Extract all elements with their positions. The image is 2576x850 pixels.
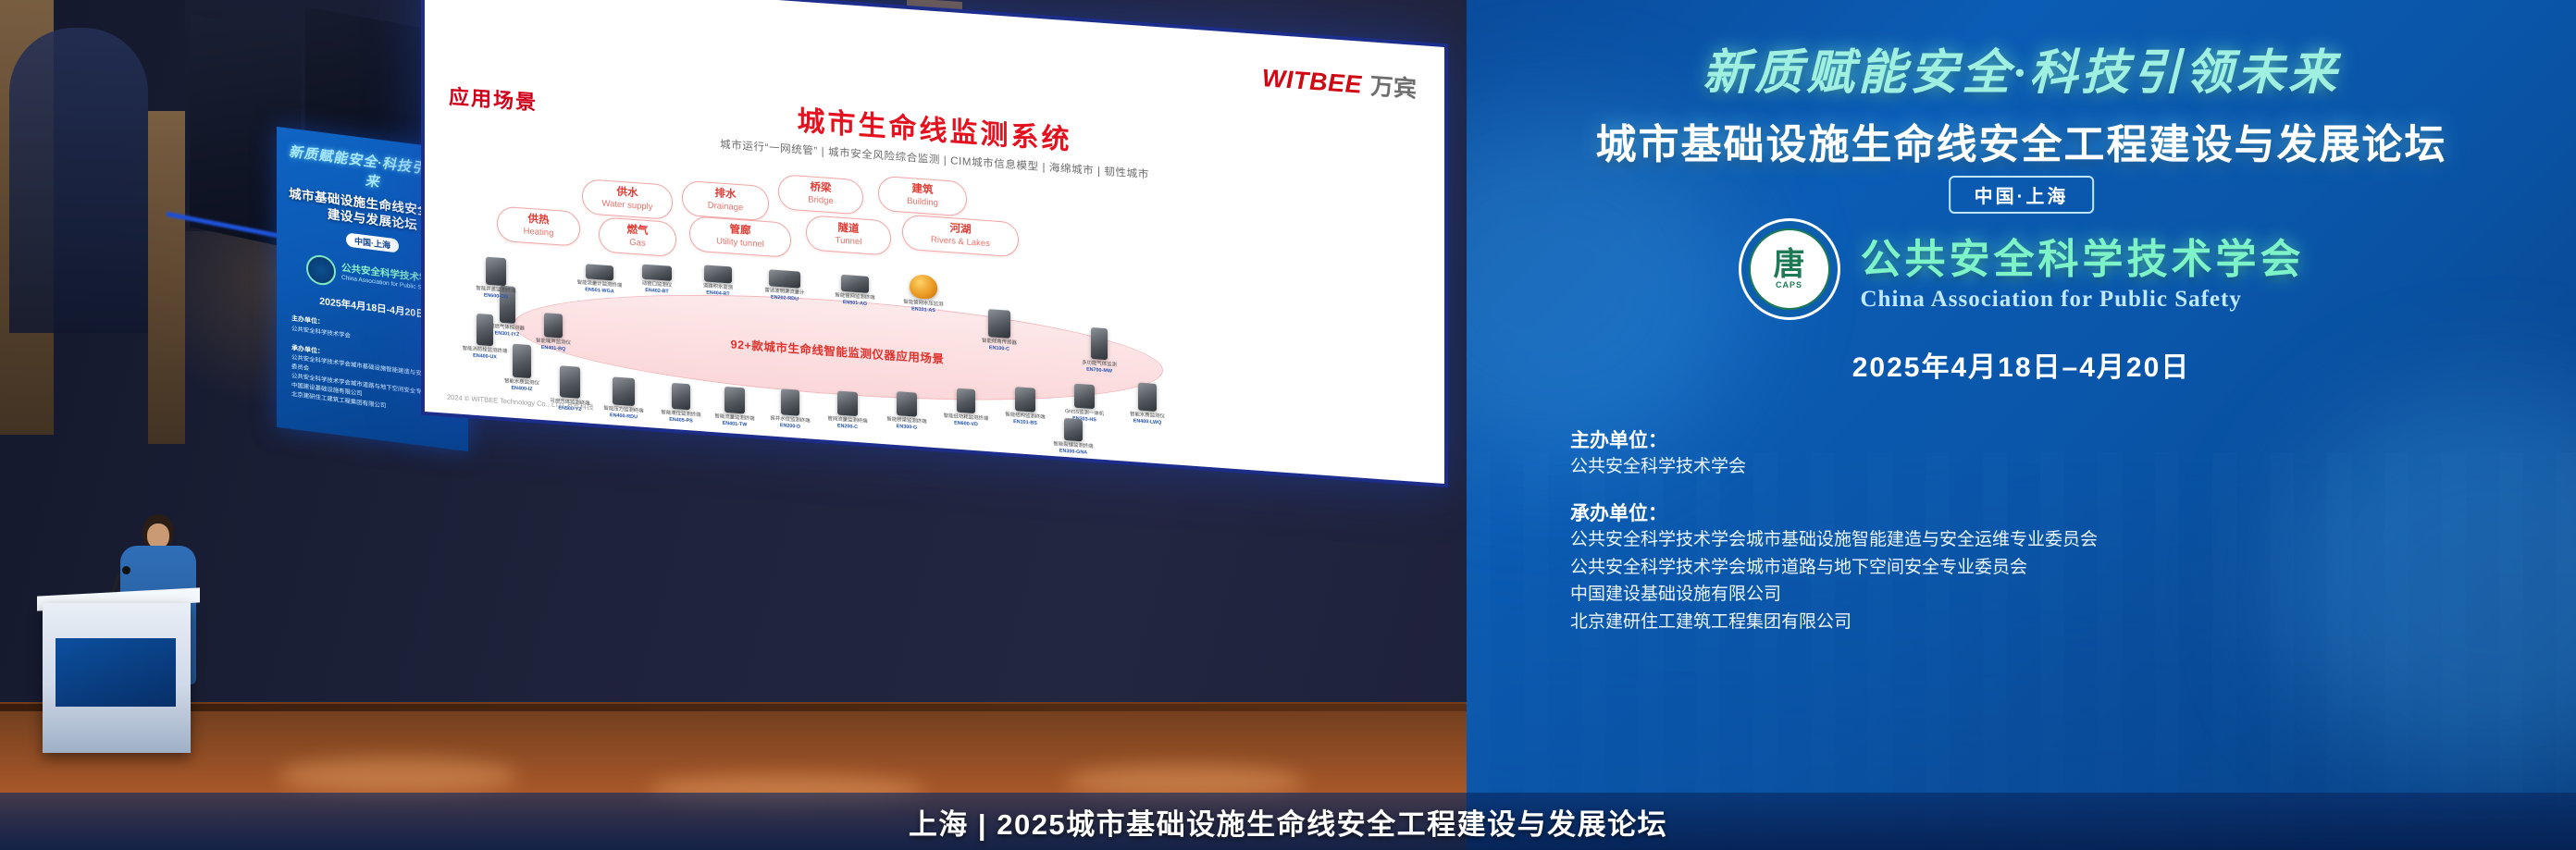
device-item-amber: 智能管网水压监测 EN101-AS [897,273,950,314]
device-item: 道路积水监测 EN404-RT [691,264,745,298]
speaker-face [147,524,169,548]
stage-edge [0,704,1517,711]
banner-host-label: 主办单位： [1570,425,2520,453]
device-item: 智能流量监测终端 EN401-TW [708,386,762,429]
seal-abbr: CAPS [1776,280,1802,289]
device-item: 动窖口监测仪 EN402-BT [630,264,684,296]
pill-utility-tunnel: 管廊 Utility tunnel [689,216,791,258]
presentation-slide: WITBEE 万宾 应用场景 城市生命线监测系统 城市运行“一网统管” | 城市… [425,0,1444,484]
device-item: 智能管网监测终端 EN501-AG [828,274,882,308]
device-item: 智能噪声监测仪 EN401-BQ [526,312,580,353]
caption-bar: 上海 | 2025城市基础设施生命线安全工程建设与发展论坛 [0,793,2576,850]
device-item: 智能井盖监测终端 EN600-CG [469,255,523,301]
device-item: 智能桥梁监测终端 EN300-G [880,390,934,432]
left-panel-region-chip: 中国·上海 [346,232,399,253]
pill-water-supply: 供水 Water supply [582,179,673,220]
device-item: 智能低功耗监测终端 EN600-VD [939,387,993,428]
witbee-logo-cn: 万宾 [1370,68,1417,105]
banner-co-0: 公共安全科学技术学会城市基础设施智能建造与安全运维专业委员会 [1570,526,2520,553]
witbee-logo: WITBEE 万宾 [1262,60,1417,105]
left-panel-host-label: 主办单位： [291,315,324,326]
banner-calligraphy: 新质赋能安全·科技引领未来 [1467,33,2576,103]
device-item: 智能裂缝监测终端 EN300-GNA [1046,417,1100,457]
banner-organizer-block: 唐 CAPS 公共安全科学技术学会 China Association for … [1467,218,2576,320]
pill-tunnel: 隧道 Tunnel [806,215,891,255]
device-item: 智能水质监测仪 EN400-LWQ [1121,381,1174,426]
banner-co-2: 中国建设基础设施有限公司 [1570,581,2520,608]
device-item: 智能结构监测终端 EN101-BS [998,386,1052,427]
banner-date: 2025年4月18日–4月20日 [1467,344,2576,385]
seal-glyph: 唐 [1774,249,1805,280]
conference-photo: 新质赋能安全·科技引领未来 城市基础设施生命线安全工程建设与发展论坛 中国·上海… [0,0,2576,850]
device-item: 管网流量监测终端 EN200-C [821,389,874,431]
left-panel-host-value: 公共安全科学技术学会 [291,326,351,339]
caps-seal-icon: 唐 CAPS [1739,218,1840,320]
wall-wood-panel-2 [148,111,185,444]
banner-host-value: 公共安全科学技术学会 [1570,453,2520,480]
witbee-logo-en: WITBEE [1262,64,1362,100]
caps-seal-icon [306,253,336,287]
caption-text: 上海 | 2025城市基础设施生命线安全工程建设与发展论坛 [909,801,1667,843]
device-item: 雷达波明渠流量计 EN202-RDU [758,268,811,302]
device-item: 多功能气体监测 EN700-MW [1072,326,1126,376]
device-item: 智能倾角传感器 EN100-C [972,308,1026,353]
microphone-head-icon [122,566,130,574]
pill-rivers-lakes: 河湖 Rivers & Lakes [902,215,1019,258]
banner-co-label: 承办单位： [1570,499,2520,526]
device-item: 智能流量计监测终端 EN501-WGA [573,263,626,295]
device-item: 智能压力监测终端 EN400-RDU [597,376,650,421]
banner-region-chip: 中国·上海 [1949,176,2095,214]
window-arch [9,28,148,333]
banner-co-3: 北京建研住工建筑工程集团有限公司 [1570,609,2520,635]
device-item: 窖井水位监测终端 EN200-D [763,388,817,431]
pill-heating: 供热 Heating [497,206,580,247]
banner-main-title: 城市基础设施生命线安全工程建设与发展论坛 [1467,111,2576,170]
pill-building: 建筑 Building [878,176,967,217]
main-led-screen: WITBEE 万宾 应用场景 城市生命线监测系统 城市运行“一网统管” | 城市… [421,0,1448,487]
podium-front-screen [56,638,176,707]
pill-drainage: 排水 Drainage [682,180,769,221]
device-item: 智能液位监测终端 EN405-PS [654,382,708,425]
floor-reflection-1 [278,758,518,795]
banner-credits: 主办单位： 公共安全科学技术学会 承办单位： 公共安全科学技术学会城市基础设施智… [1570,407,2520,635]
right-banner: 新质赋能安全·科技引领未来 城市基础设施生命线安全工程建设与发展论坛 中国·上海… [1467,0,2576,850]
left-panel-co-label: 承办单位： [291,344,324,354]
pill-gas: 燃气 Gas [599,216,676,257]
banner-org-cn: 公共安全科学技术学会 [1861,226,2305,285]
banner-org-en: China Association for Public Safety [1861,287,2305,313]
pill-bridge: 桥梁 Bridge [778,174,863,215]
banner-co-1: 公共安全科学技术学会城市道路与地下空间安全专业委员会 [1570,554,2520,581]
